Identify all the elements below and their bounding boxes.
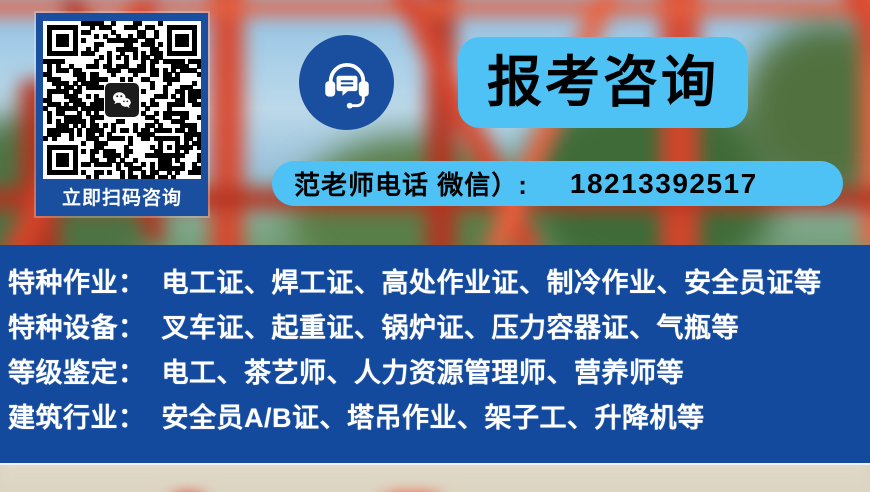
info-row-value: 电工、茶艺师、人力资源管理师、营养师等 — [162, 351, 685, 390]
info-row-label: 等级鉴定： — [8, 351, 146, 390]
headline-banner: 报考咨询 — [458, 37, 748, 128]
crane-beam — [210, 0, 244, 280]
contact-banner[interactable]: 范老师电话 微信）: 18213392517 — [272, 161, 843, 206]
qr-card[interactable]: 立即扫码咨询 — [36, 13, 208, 216]
qr-card-caption: 立即扫码咨询 — [44, 189, 200, 208]
info-row-label: 特种设备： — [8, 306, 146, 345]
info-row-value: 电工证、焊工证、高处作业证、制冷作业、安全员证等 — [162, 261, 822, 300]
page-title: 报考咨询 — [487, 55, 719, 110]
info-row-value: 安全员A/B证、塔吊作业、架子工、升降机等 — [162, 396, 705, 435]
info-row-special-operations: 特种作业： 电工证、焊工证、高处作业证、制冷作业、安全员证等 — [8, 261, 870, 306]
info-row-label: 建筑行业： — [8, 396, 146, 435]
info-row-construction-industry: 建筑行业： 安全员A/B证、塔吊作业、架子工、升降机等 — [8, 396, 870, 441]
info-row-value: 叉车证、起重证、锅炉证、压力容器证、气瓶等 — [162, 306, 740, 345]
wechat-icon — [105, 83, 139, 117]
promo-poster: 立即扫码咨询 报考咨询 范老师电话 微信）: 18213392517 — [0, 0, 870, 492]
qr-code-image[interactable] — [43, 21, 201, 179]
info-row-grade-appraisal: 等级鉴定： 电工、茶艺师、人力资源管理师、营养师等 — [8, 351, 870, 396]
info-row-label: 特种作业： — [8, 261, 146, 300]
info-row-special-equipment: 特种设备： 叉车证、起重证、锅炉证、压力容器证、气瓶等 — [8, 306, 870, 351]
headset-support-icon — [299, 35, 394, 130]
certification-list-panel: 特种作业： 电工证、焊工证、高处作业证、制冷作业、安全员证等 特种设备： 叉车证… — [0, 245, 870, 465]
contact-phone-number[interactable]: 18213392517 — [570, 168, 758, 200]
contact-label: 范老师电话 微信）: — [294, 165, 528, 202]
